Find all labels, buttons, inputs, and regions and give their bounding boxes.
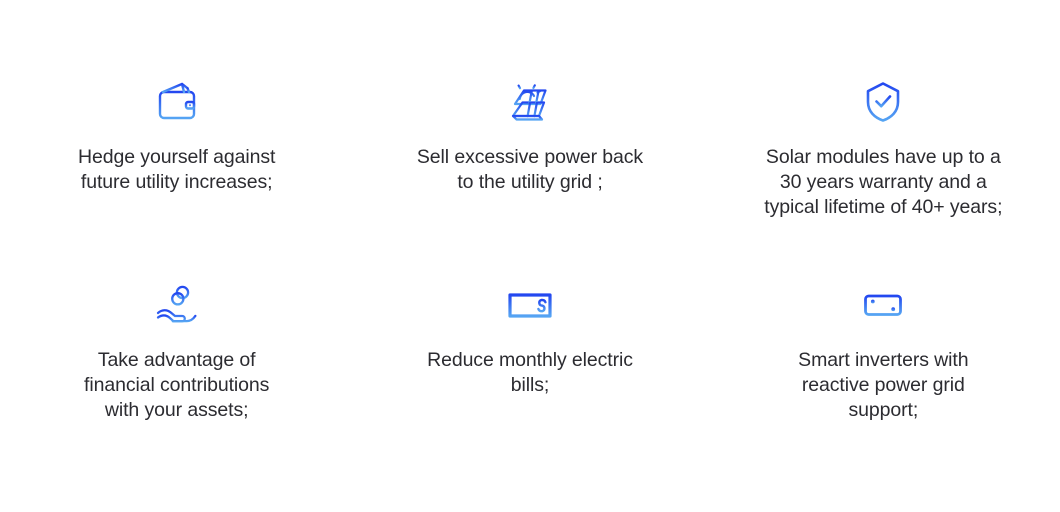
benefit-text: Smart inverters with reactive power grid… — [798, 348, 968, 423]
benefit-text: Take advantage of financial contribution… — [84, 348, 269, 423]
benefit-text: Reduce monthly electric bills; — [427, 348, 633, 398]
microchip-icon — [857, 281, 909, 329]
solar-panel-sun-icon — [504, 78, 556, 126]
wallet-icon — [151, 78, 203, 126]
benefit-text: Solar modules have up to a 30 years warr… — [764, 145, 1002, 220]
benefit-card-wallet: Hedge yourself against future utility in… — [0, 78, 353, 281]
benefit-card-financial: Take advantage of financial contribution… — [0, 281, 353, 484]
benefits-grid: Hedge yourself against future utility in… — [0, 0, 1060, 512]
benefit-card-inverter: Smart inverters with reactive power grid… — [707, 281, 1060, 484]
benefit-card-bills: Reduce monthly electric bills; — [353, 281, 706, 484]
benefit-card-warranty: Solar modules have up to a 30 years warr… — [707, 78, 1060, 281]
shield-check-icon — [857, 78, 909, 126]
banknote-dollar-icon — [504, 281, 556, 329]
benefit-card-solar-panel: Sell excessive power back to the utility… — [353, 78, 706, 281]
benefit-text: Hedge yourself against future utility in… — [78, 145, 275, 195]
hand-holding-coins-icon — [151, 281, 203, 329]
benefit-text: Sell excessive power back to the utility… — [417, 145, 643, 195]
